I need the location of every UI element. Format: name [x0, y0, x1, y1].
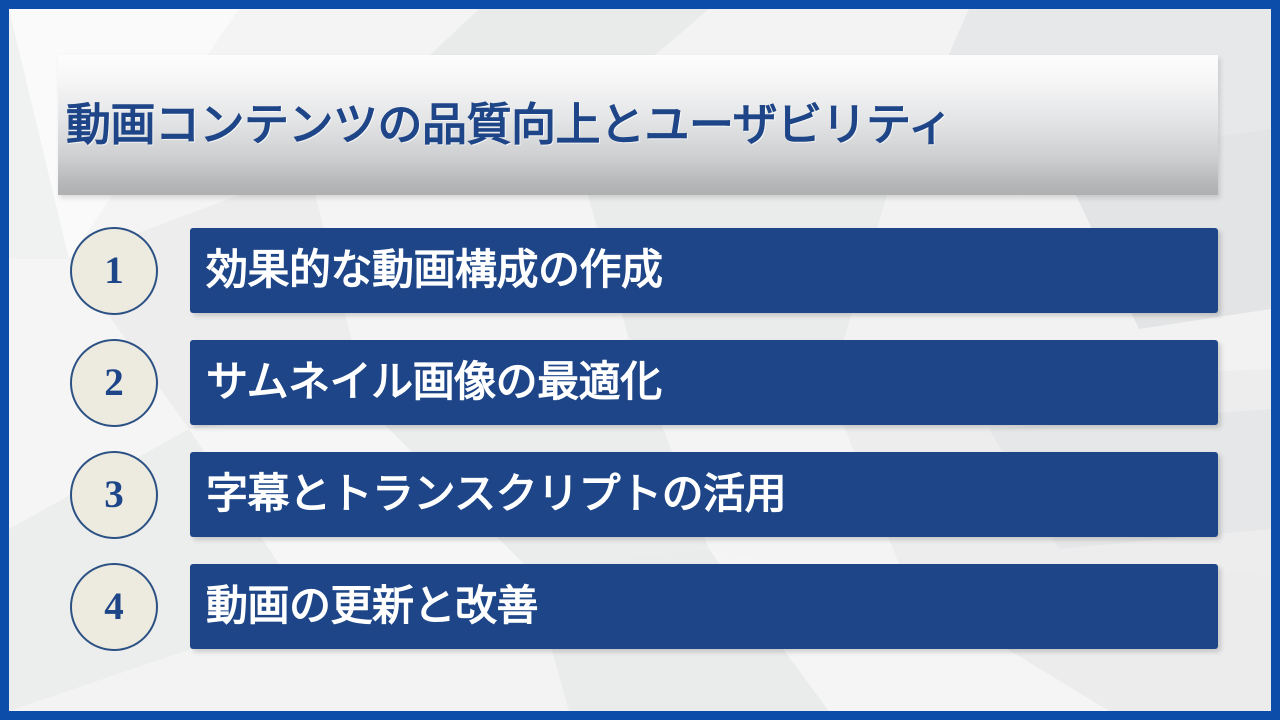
item-number-text: 2 — [104, 363, 124, 402]
item-label: 字幕とトランスクリプトの活用 — [190, 471, 804, 517]
item-bar[interactable]: 動画の更新と改善 — [190, 564, 1218, 649]
item-label: 効果的な動画構成の作成 — [190, 247, 681, 293]
item-label: 動画の更新と改善 — [190, 583, 556, 629]
item-number-badge: 2 — [70, 339, 158, 427]
item-number-text: 3 — [104, 475, 124, 514]
list-item: 4 動画の更新と改善 — [0, 564, 1280, 649]
item-bar[interactable]: 字幕とトランスクリプトの活用 — [190, 452, 1218, 537]
frame-border-bottom — [0, 711, 1280, 720]
item-number-badge: 3 — [70, 451, 158, 539]
slide-canvas: 動画コンテンツの品質向上とユーザビリティ 1 効果的な動画構成の作成 2 サムネ… — [0, 0, 1280, 720]
item-bar[interactable]: サムネイル画像の最適化 — [190, 340, 1218, 425]
list-item: 2 サムネイル画像の最適化 — [0, 340, 1280, 425]
list-item: 1 効果的な動画構成の作成 — [0, 228, 1280, 313]
item-number-badge: 4 — [70, 563, 158, 651]
item-number-text: 1 — [104, 251, 124, 290]
page-title: 動画コンテンツの品質向上とユーザビリティ — [58, 100, 952, 150]
item-label: サムネイル画像の最適化 — [190, 359, 680, 405]
item-bar[interactable]: 効果的な動画構成の作成 — [190, 228, 1218, 313]
list-item: 3 字幕とトランスクリプトの活用 — [0, 452, 1280, 537]
frame-border-left — [0, 0, 9, 720]
frame-border-top — [0, 0, 1280, 9]
title-band: 動画コンテンツの品質向上とユーザビリティ — [58, 55, 1218, 195]
numbered-list: 1 効果的な動画構成の作成 2 サムネイル画像の最適化 3 字幕とトランスクリプ… — [0, 228, 1280, 676]
item-number-badge: 1 — [70, 227, 158, 315]
frame-border-right — [1271, 0, 1280, 720]
item-number-text: 4 — [104, 587, 124, 626]
